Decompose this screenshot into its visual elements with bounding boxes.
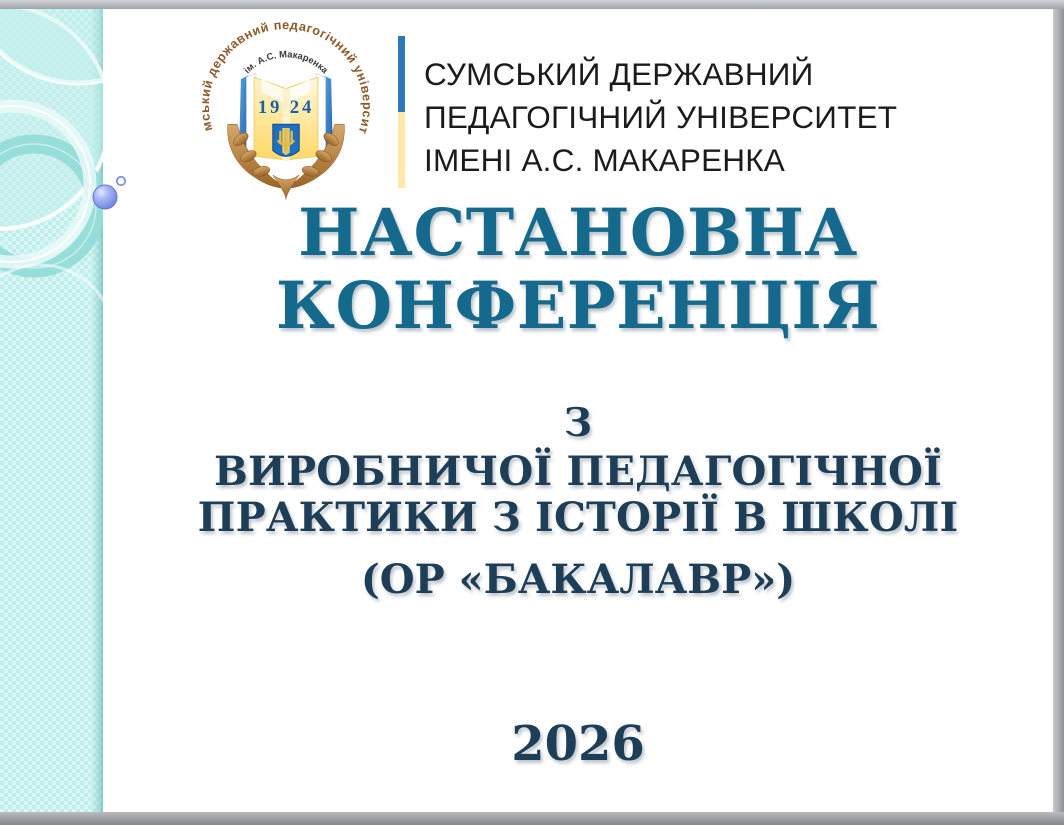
slide-viewer: Сумський державний педагогічний універси… bbox=[0, 0, 1064, 825]
flag-blue-half bbox=[398, 36, 405, 112]
subtitle-block: З ВИРОБНИЧОЇ ПЕДАГОГІЧНОЇ ПРАКТИКИ З ІСТ… bbox=[103, 397, 1053, 603]
university-emblem-icon: Сумський державний педагогічний універси… bbox=[192, 19, 380, 207]
subtitle-line-1: ВИРОБНИЧОЇ ПЕДАГОГІЧНОЇ bbox=[103, 449, 1053, 495]
subtitle-degree: (ОР «БАКАЛАВР») bbox=[103, 557, 1053, 603]
page-title-line-2: КОНФЕРЕНЦІЯ bbox=[103, 270, 1053, 343]
presentation-slide: Сумський державний педагогічний універси… bbox=[0, 9, 1053, 812]
viewer-frame-bottom bbox=[0, 812, 1064, 825]
page-title-line-1: НАСТАНОВНА bbox=[103, 197, 1053, 270]
university-name-line-2: ПЕДАГОГІЧНИЙ УНІВЕРСИТЕТ bbox=[424, 96, 924, 139]
university-name-line-3: ІМЕНІ А.С. МАКАРЕНКА bbox=[424, 139, 924, 182]
emblem-inner-arc-text: ім. А.С. Макаренка bbox=[241, 48, 331, 76]
slide-year: 2026 bbox=[103, 716, 1053, 772]
viewer-frame-top bbox=[0, 0, 1064, 9]
university-name-line-1: СУМСЬКИЙ ДЕРЖАВНИЙ bbox=[424, 53, 924, 96]
viewer-frame-right bbox=[1053, 9, 1064, 812]
decorative-side-band bbox=[0, 9, 103, 812]
subtitle-line-2: ПРАКТИКИ З ІСТОРІЇ В ШКОЛІ bbox=[103, 495, 1053, 541]
header-block: Сумський державний педагогічний універси… bbox=[192, 17, 932, 202]
page-title: НАСТАНОВНА КОНФЕРЕНЦІЯ bbox=[103, 197, 1053, 343]
decorative-small-circle bbox=[117, 177, 125, 185]
ukrainian-flag-divider bbox=[398, 36, 405, 188]
university-name: СУМСЬКИЙ ДЕРЖАВНИЙ ПЕДАГОГІЧНИЙ УНІВЕРСИ… bbox=[424, 53, 924, 182]
emblem-year-text: 19 24 bbox=[258, 97, 314, 118]
subtitle-preposition: З bbox=[103, 397, 1053, 449]
flag-yellow-half bbox=[398, 112, 405, 188]
